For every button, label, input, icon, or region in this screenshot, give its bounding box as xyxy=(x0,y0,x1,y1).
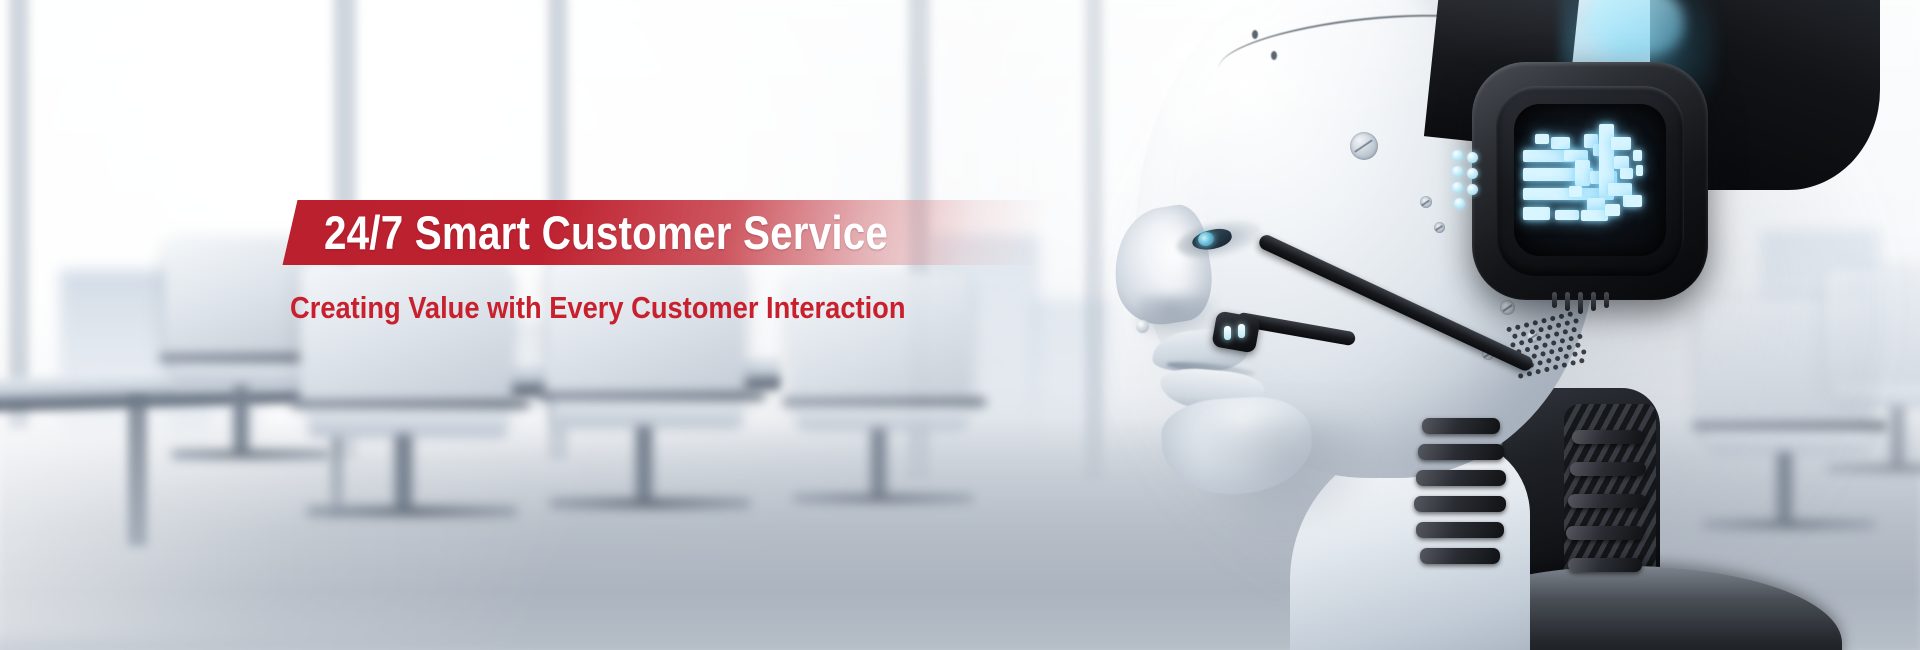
perforation-dot xyxy=(1559,338,1565,344)
chair-base xyxy=(792,494,974,503)
perforation-dot xyxy=(1550,315,1556,321)
chair-post xyxy=(870,428,887,498)
perforation-dot xyxy=(1571,327,1577,333)
perforation-dot xyxy=(1547,324,1553,330)
perforation-dot xyxy=(1555,355,1561,361)
perforation-dot xyxy=(1532,320,1538,326)
robot-neck-rib xyxy=(1570,462,1646,476)
perforation-dot xyxy=(1541,318,1547,324)
banner-title-text: 24/7 Smart Customer Service xyxy=(324,200,888,265)
perforation-dot xyxy=(1533,344,1539,350)
grill-slat xyxy=(1591,292,1596,311)
banner-subtitle: Creating Value with Every Customer Inter… xyxy=(290,288,989,328)
headset-led-icon xyxy=(1467,168,1478,179)
perforation-dot xyxy=(1506,326,1512,332)
headset-led-icon xyxy=(1452,166,1463,177)
perforation-dot xyxy=(1563,353,1569,359)
perforation-dot xyxy=(1561,362,1567,368)
display-pixel-block xyxy=(1608,183,1632,196)
perforation-dot xyxy=(1512,333,1518,339)
robot-cheek-port xyxy=(1136,320,1149,333)
banner-title-wrap: 24/7 Smart Customer Service xyxy=(290,200,1044,265)
perforation-dot xyxy=(1540,351,1546,357)
display-pixel-block xyxy=(1633,150,1642,161)
grill-slat xyxy=(1565,292,1570,311)
headset-led-icon xyxy=(1467,184,1478,195)
perforation-dot xyxy=(1558,313,1564,319)
robot-screw-icon xyxy=(1434,222,1445,233)
perforation-dot xyxy=(1542,342,1548,348)
display-pixel-block xyxy=(1569,186,1583,197)
chair-post xyxy=(394,434,413,512)
display-pixel-block xyxy=(1636,165,1644,176)
headset-led-icon xyxy=(1452,150,1463,161)
perforation-dot xyxy=(1531,353,1537,359)
perforation-dot xyxy=(1519,340,1525,346)
display-pixel-block xyxy=(1581,210,1608,221)
perforation-dot xyxy=(1553,364,1559,370)
chair-post xyxy=(233,386,249,454)
robot-jaw-shadow xyxy=(1206,420,1376,530)
display-pixel-block xyxy=(1551,137,1571,148)
chair-armrest xyxy=(537,392,765,400)
robot-neck-rib xyxy=(1422,418,1500,434)
headset-led-icon xyxy=(1454,198,1465,209)
robot-neck-rib xyxy=(1572,430,1644,444)
perforation-dot xyxy=(1562,329,1568,335)
display-pixel-block xyxy=(1605,204,1620,216)
perforation-dot xyxy=(1554,331,1560,337)
display-pixel-block xyxy=(1587,198,1605,211)
perforation-dot xyxy=(1535,369,1541,375)
robot-screw-icon xyxy=(1350,132,1378,160)
robot-neck-rib xyxy=(1416,522,1504,538)
perforation-dot xyxy=(1545,333,1551,339)
grill-slat xyxy=(1604,292,1609,308)
headset-speaker-grill xyxy=(1552,292,1628,314)
robot-screw-icon xyxy=(1500,300,1515,315)
robot-neck-rib xyxy=(1568,558,1642,572)
perforation-dot xyxy=(1527,338,1533,344)
perforation-dot xyxy=(1573,318,1579,324)
chair-backrest xyxy=(545,258,745,404)
perforation-dot xyxy=(1551,340,1557,346)
perforation-dot xyxy=(1575,342,1581,348)
perforation-dot xyxy=(1581,349,1587,355)
mic-led-icon xyxy=(1238,324,1245,338)
display-pixel-block xyxy=(1623,195,1641,206)
chair-base xyxy=(549,498,751,509)
chair-backrest xyxy=(300,262,512,412)
display-pixel-block xyxy=(1535,134,1549,144)
display-pixel-block xyxy=(1523,207,1550,220)
chair-seat xyxy=(553,402,743,429)
perforation-dot xyxy=(1515,324,1521,330)
robot-neck-rib xyxy=(1566,526,1644,540)
perforation-dot xyxy=(1529,329,1535,335)
mic-led-icon xyxy=(1224,326,1231,340)
robot-head-vent-dot xyxy=(1271,51,1277,60)
chair-armrest xyxy=(782,398,986,406)
headset-led-icon xyxy=(1467,152,1478,163)
perforation-dot xyxy=(1577,333,1583,339)
display-pixel-block xyxy=(1575,160,1590,186)
perforation-dot xyxy=(1510,342,1516,348)
perforation-dot xyxy=(1564,320,1570,326)
perforation-dot xyxy=(1549,349,1555,355)
conference-table-leg xyxy=(128,396,147,546)
robot-neck-rib xyxy=(1420,548,1500,564)
robot-neck-rib xyxy=(1568,494,1646,508)
perforation-dot xyxy=(1568,336,1574,342)
perforation-dot xyxy=(1572,351,1578,357)
display-pixel-block xyxy=(1555,210,1579,220)
chair-armrest xyxy=(290,400,530,408)
headset-led-icon xyxy=(1452,182,1463,193)
grill-slat xyxy=(1578,292,1583,314)
perforation-dot xyxy=(1526,371,1532,377)
perforation-dot xyxy=(1538,327,1544,333)
display-pixel-block xyxy=(1611,137,1631,150)
display-pixel-block xyxy=(1614,156,1629,169)
perforation-dot xyxy=(1537,360,1543,366)
chair-post xyxy=(635,426,653,502)
robot-customer-service-agent xyxy=(960,0,1920,650)
robot-neck-rib xyxy=(1414,496,1506,512)
perforation-dot xyxy=(1556,322,1562,328)
headset-pixel-display xyxy=(1514,104,1666,256)
hero-banner: 24/7 Smart Customer Service Creating Val… xyxy=(0,0,1920,650)
banner-subtitle-text: Creating Value with Every Customer Inter… xyxy=(290,288,905,328)
perforation-dot xyxy=(1521,331,1527,337)
title-red-banner: 24/7 Smart Customer Service xyxy=(282,200,1051,265)
perforation-dot xyxy=(1524,347,1530,353)
window-mullion xyxy=(6,0,32,430)
perforation-dot xyxy=(1566,344,1572,350)
robot-head-vent-dot xyxy=(1252,30,1258,39)
perforation-dot xyxy=(1557,347,1563,353)
perforation-dot xyxy=(1579,358,1585,364)
robot-screw-icon xyxy=(1420,196,1432,208)
headset-led-indicator-group xyxy=(1450,150,1486,222)
perforation-dot xyxy=(1524,322,1530,328)
perforation-dot xyxy=(1570,360,1576,366)
display-pixel-block xyxy=(1620,168,1632,179)
perforation-dot xyxy=(1544,366,1550,372)
robot-neck-rib xyxy=(1416,470,1506,486)
perforation-dot xyxy=(1518,373,1524,379)
grill-slat xyxy=(1552,292,1557,308)
perforation-dot xyxy=(1536,335,1542,341)
headset-mic-capsule xyxy=(1211,310,1261,353)
robot-neck-rib xyxy=(1418,444,1504,460)
perforation-dot xyxy=(1546,358,1552,364)
chair-base xyxy=(306,506,518,517)
banner-title: 24/7 Smart Customer Service xyxy=(324,200,980,265)
